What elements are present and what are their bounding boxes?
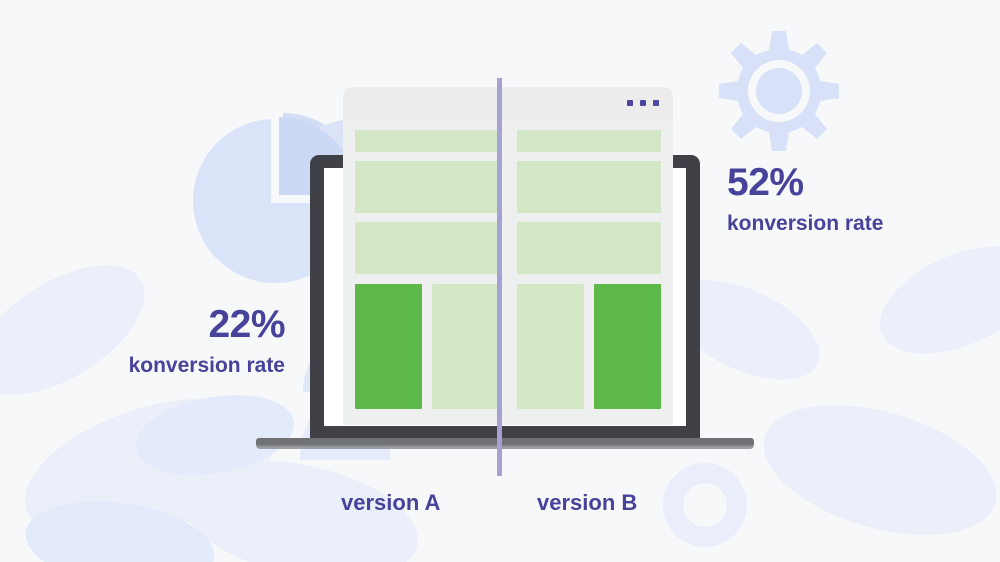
- mockup-bar-row: [517, 284, 661, 409]
- stat-percent-a: 22%: [68, 305, 285, 344]
- content-block: [355, 161, 499, 213]
- illustration-canvas: 22% konversion rate 52% konversion rate …: [0, 0, 1000, 562]
- ab-split-divider: [497, 78, 502, 476]
- mockup-bar-row: [355, 284, 499, 409]
- content-block: [517, 161, 661, 213]
- stat-caption-a: konversion rate: [68, 354, 285, 377]
- dot-1-icon: [627, 100, 633, 106]
- dot-3-icon: [653, 100, 659, 106]
- content-block: [517, 222, 661, 274]
- laptop-base-shadow: [256, 445, 754, 449]
- content-strip: [517, 130, 661, 152]
- mockup-columns: [343, 120, 673, 425]
- version-label-b: version B: [537, 490, 637, 516]
- content-strip: [355, 130, 499, 152]
- content-block: [355, 222, 499, 274]
- mockup-column-version-a: [343, 120, 508, 425]
- mockup-column-version-b: [508, 120, 673, 425]
- stat-percent-b: 52%: [727, 163, 883, 202]
- cta-block-highlighted: [594, 284, 661, 409]
- gear-icon-small: [663, 463, 747, 547]
- stat-version-a: 22% konversion rate: [68, 305, 285, 377]
- dot-2-icon: [640, 100, 646, 106]
- cta-block-muted: [517, 284, 584, 409]
- version-label-a: version A: [341, 490, 440, 516]
- stat-caption-b: konversion rate: [727, 212, 883, 235]
- gear-icon: [719, 31, 839, 151]
- stat-version-b: 52% konversion rate: [727, 163, 883, 235]
- cta-block-muted: [432, 284, 499, 409]
- webpage-mockup: [343, 87, 673, 425]
- window-controls: [627, 100, 659, 106]
- cta-block-highlighted: [355, 284, 422, 409]
- mockup-header-bar: [343, 87, 673, 120]
